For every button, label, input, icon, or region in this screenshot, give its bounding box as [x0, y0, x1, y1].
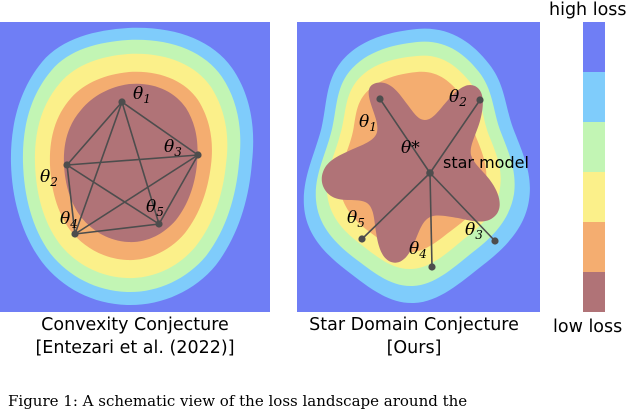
caption-right-line1: Star Domain Conjecture	[288, 314, 540, 337]
colorbar-band-1	[583, 272, 605, 312]
panel-star-domain-conjecture: θ* star model θ1 θ2 θ3 θ4 θ5	[297, 22, 540, 312]
caption-right-line2: [Ours]	[288, 337, 540, 360]
star-model-node	[426, 169, 434, 177]
colorbar-band-4	[583, 122, 605, 172]
model-node-theta1	[376, 95, 383, 102]
node-label-theta-star: θ*	[401, 138, 420, 158]
colorbar-label-high: high loss	[549, 0, 627, 20]
model-node-theta1	[118, 98, 125, 105]
colorbar-band-2	[583, 222, 605, 272]
model-node-theta4	[71, 230, 78, 237]
colorbar-label-low: low loss	[553, 317, 622, 337]
model-node-theta3	[194, 151, 201, 158]
star-model-annotation: star model	[443, 153, 529, 172]
loss-landscape-right: θ* star model θ1 θ2 θ3 θ4 θ5	[297, 22, 540, 312]
colorbar-band-5	[583, 72, 605, 122]
loss-landscape-left: θ1 θ2 θ3 θ4 θ5	[0, 22, 270, 312]
colorbar-band-6	[583, 22, 605, 72]
caption-left-line1: Convexity Conjecture	[0, 314, 270, 337]
model-node-theta5	[358, 235, 365, 242]
loss-colorbar	[583, 22, 605, 312]
caption-right-panel: Star Domain Conjecture [Ours]	[288, 314, 540, 360]
caption-left-panel: Convexity Conjecture [Entezari et al. (2…	[0, 314, 270, 360]
model-node-theta2	[476, 96, 483, 103]
figure-caption-text: Figure 1: A schematic view of the loss l…	[8, 392, 632, 410]
model-node-theta4	[428, 263, 435, 270]
colorbar-band-3	[583, 172, 605, 222]
model-node-theta5	[155, 220, 162, 227]
figure-container: θ1 θ2 θ3 θ4 θ5	[0, 0, 640, 405]
model-node-theta3	[491, 237, 498, 244]
caption-left-line2: [Entezari et al. (2022)]	[0, 337, 270, 360]
model-node-theta2	[63, 161, 70, 168]
panel-convexity-conjecture: θ1 θ2 θ3 θ4 θ5	[0, 22, 270, 312]
